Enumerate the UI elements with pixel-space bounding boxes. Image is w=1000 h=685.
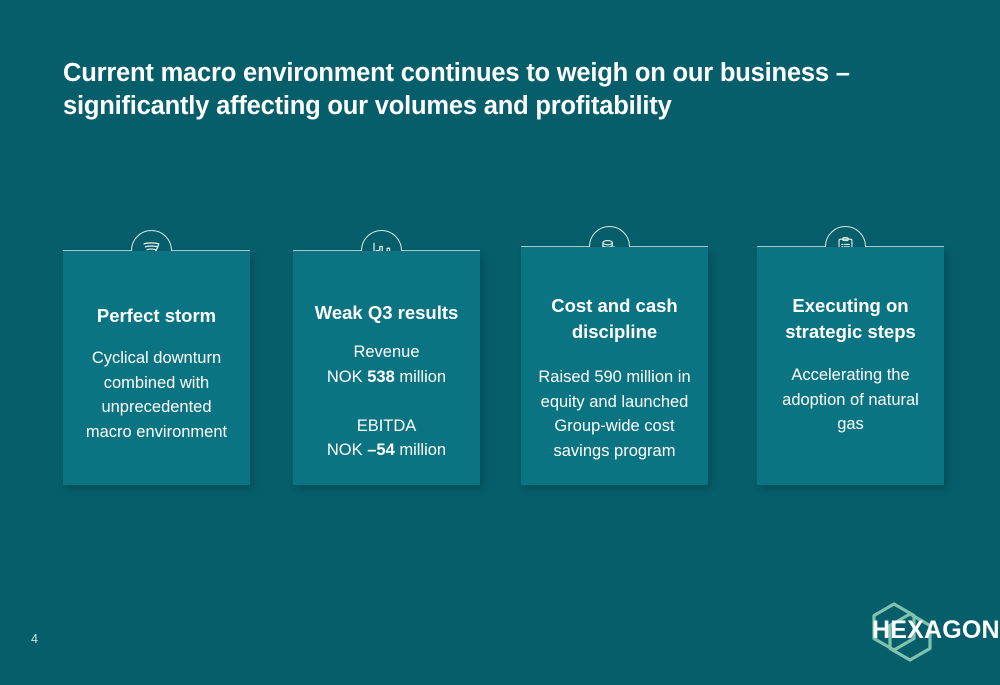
card-body: Perfect storm Cyclical downturncombined … xyxy=(63,251,250,485)
card-body: Executing on strategic steps Acceleratin… xyxy=(757,247,944,485)
card-heading: Weak Q3 results xyxy=(303,300,470,326)
card-heading: Executing on strategic steps xyxy=(767,293,934,345)
card-text: RevenueNOK 538 millionEBITDANOK –54 mill… xyxy=(303,340,470,463)
logo-wordmark: HEXAGON xyxy=(872,616,986,645)
hexagon-logo: HEXAGON xyxy=(866,601,986,663)
card-body: Weak Q3 results RevenueNOK 538 millionEB… xyxy=(293,251,480,485)
cards-row: Perfect storm Cyclical downturncombined … xyxy=(0,0,1000,685)
card-heading: Perfect storm xyxy=(73,303,240,329)
card-heading: Cost and cash discipline xyxy=(531,293,698,345)
card-text: Accelerating theadoption of naturalgas xyxy=(767,363,934,437)
page-number: 4 xyxy=(31,632,38,646)
card-text: Cyclical downturncombined withunpreceden… xyxy=(73,346,240,444)
card-text: Raised 590 million inequity and launched… xyxy=(531,365,698,463)
card-body: Cost and cash discipline Raised 590 mill… xyxy=(521,247,708,485)
